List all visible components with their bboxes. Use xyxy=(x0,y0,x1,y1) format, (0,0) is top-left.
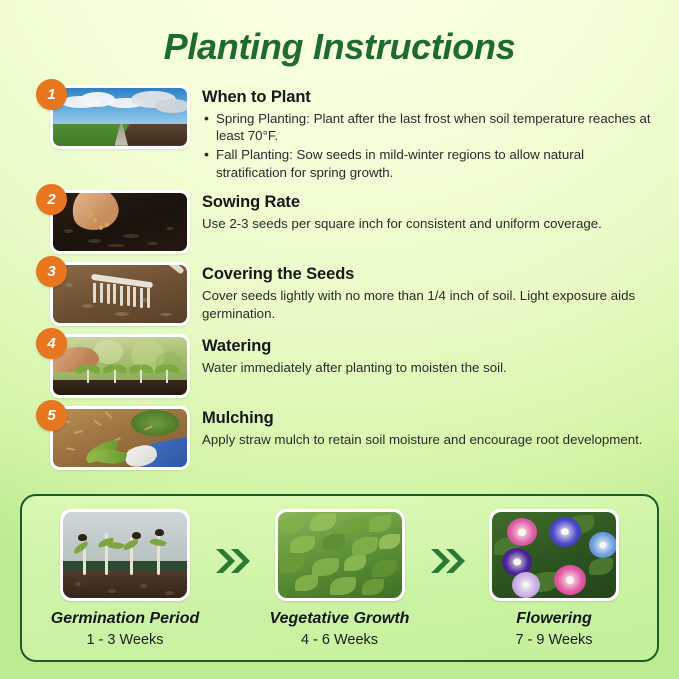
step-image-frame xyxy=(50,334,190,398)
step-text: Covering the Seeds Cover seeds lightly w… xyxy=(190,262,657,322)
timeline-image-frame xyxy=(489,509,619,601)
timeline-stage: Vegetative Growth 4 - 6 Weeks xyxy=(255,509,425,648)
timeline-stage-duration: 4 - 6 Weeks xyxy=(255,632,425,648)
list-item: Fall Planting: Sow seeds in mild-winter … xyxy=(202,146,657,181)
step-item: 5 xyxy=(36,406,657,470)
step-media: 5 xyxy=(36,406,190,470)
field-and-road-photo xyxy=(53,88,187,146)
timeline-stage-label: Vegetative Growth xyxy=(255,610,425,628)
double-chevron-right-icon xyxy=(212,546,252,576)
growth-timeline-panel: Germination Period 1 - 3 Weeks xyxy=(20,494,659,662)
hand-sowing-seeds-photo xyxy=(53,193,187,251)
step-body: Use 2-3 seeds per square inch for consis… xyxy=(202,215,657,233)
step-item: 4 xyxy=(36,334,657,398)
timeline-image-frame xyxy=(275,509,405,601)
germinating-seedlings-photo xyxy=(63,512,187,598)
timeline-stage: Germination Period 1 - 3 Weeks xyxy=(40,509,210,648)
step-body: Water immediately after planting to mois… xyxy=(202,359,657,377)
step-text: Sowing Rate Use 2-3 seeds per square inc… xyxy=(190,190,657,233)
step-body: Apply straw mulch to retain soil moistur… xyxy=(202,431,657,449)
step-media: 3 xyxy=(36,262,190,326)
step-body: Cover seeds lightly with no more than 1/… xyxy=(202,287,657,322)
step-text: When to Plant Spring Planting: Plant aft… xyxy=(190,85,657,183)
list-item: Spring Planting: Plant after the last fr… xyxy=(202,110,657,145)
step-text: Mulching Apply straw mulch to retain soi… xyxy=(190,406,657,449)
step-item: 3 xyxy=(36,262,657,326)
straw-mulch-planting-photo xyxy=(53,409,187,467)
timeline-stage-duration: 7 - 9 Weeks xyxy=(469,632,639,648)
step-bullet-list: Spring Planting: Plant after the last fr… xyxy=(202,110,657,182)
step-image-frame xyxy=(50,406,190,470)
step-item: 1 When to Pla xyxy=(36,85,657,183)
step-heading: Watering xyxy=(202,337,657,356)
step-heading: Sowing Rate xyxy=(202,193,657,212)
step-media: 2 xyxy=(36,190,190,254)
watering-seedlings-photo xyxy=(53,337,187,395)
step-body: Spring Planting: Plant after the last fr… xyxy=(202,110,657,182)
timeline-stage-label: Flowering xyxy=(469,610,639,628)
step-number-badge: 1 xyxy=(36,79,67,110)
morning-glory-flowers-photo xyxy=(492,512,616,598)
step-item: 2 xyxy=(36,190,657,254)
step-heading: Mulching xyxy=(202,409,657,428)
green-foliage-photo xyxy=(278,512,402,598)
step-media: 1 xyxy=(36,85,190,149)
timeline-image-frame xyxy=(60,509,190,601)
timeline-stage: Flowering 7 - 9 Weeks xyxy=(469,509,639,648)
step-image-frame xyxy=(50,85,190,149)
page-title: Planting Instructions xyxy=(0,0,679,67)
timeline-stage-duration: 1 - 3 Weeks xyxy=(40,632,210,648)
step-text: Watering Water immediately after plantin… xyxy=(190,334,657,377)
rake-on-soil-photo xyxy=(53,265,187,323)
steps-list: 1 When to Pla xyxy=(0,85,679,471)
step-media: 4 xyxy=(36,334,190,398)
double-chevron-right-icon xyxy=(427,546,467,576)
timeline-stage-label: Germination Period xyxy=(40,610,210,628)
step-image-frame xyxy=(50,190,190,254)
step-heading: Covering the Seeds xyxy=(202,265,657,284)
step-heading: When to Plant xyxy=(202,88,657,107)
step-image-frame xyxy=(50,262,190,326)
